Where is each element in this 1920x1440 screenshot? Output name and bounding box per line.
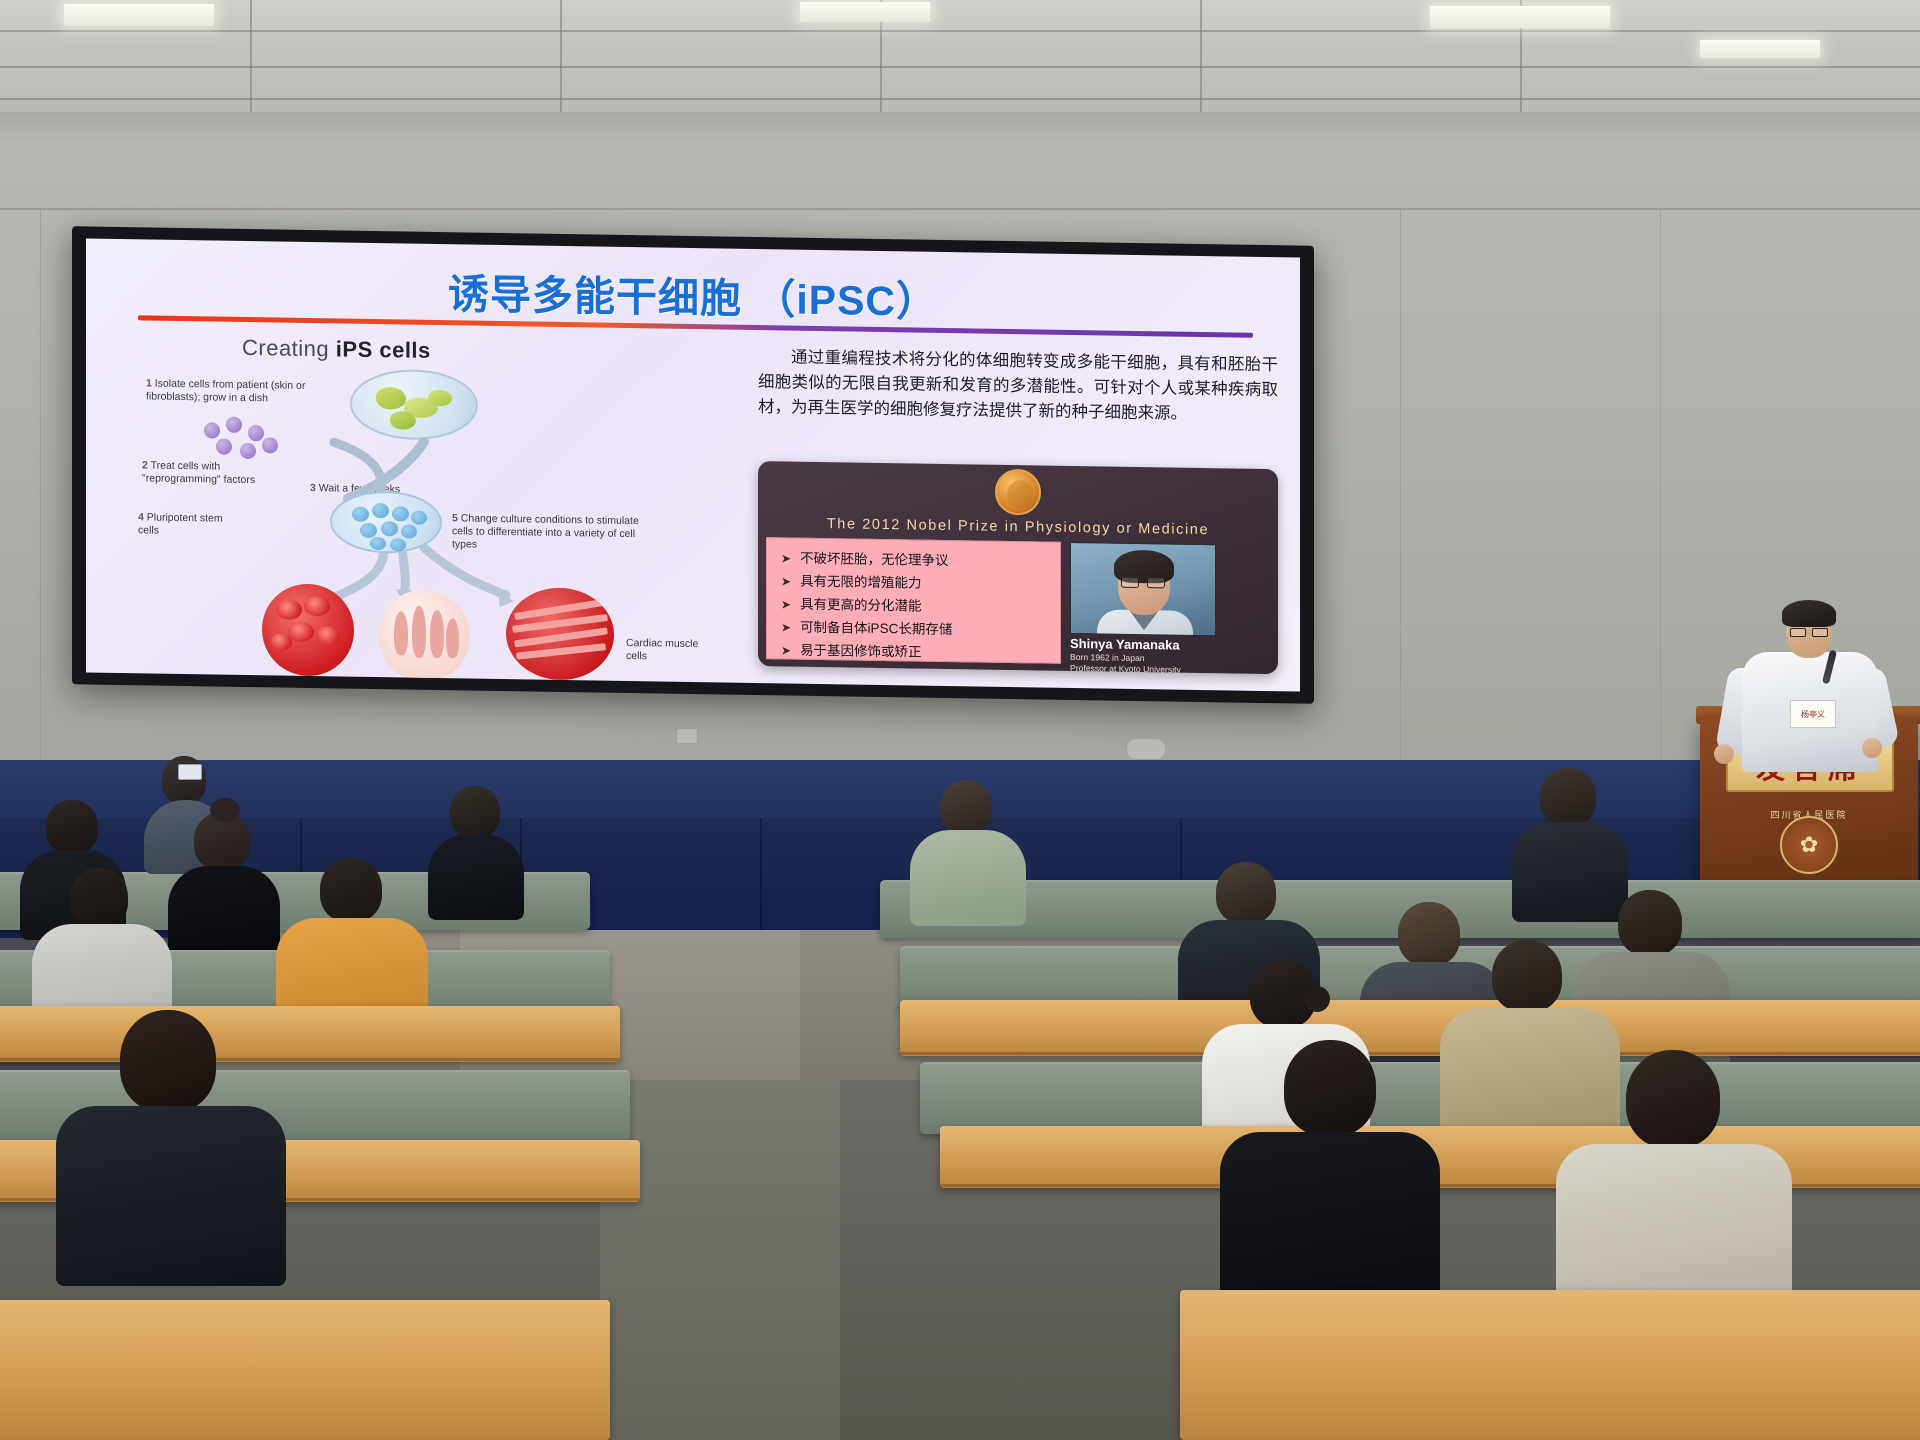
- wall-outlet: [676, 728, 698, 744]
- benefit-item: ➤具有无限的增殖能力: [781, 569, 922, 591]
- arrow-bullet-icon: ➤: [781, 597, 791, 611]
- benefit-text: 不破坏胚胎，无伦理争议: [800, 551, 949, 568]
- output-label-cardiac-text: Cardiac muscle cells: [626, 637, 698, 662]
- ips-creation-diagram: Creating iPS cells 1 Isolate cells from …: [134, 329, 732, 668]
- gut-cells-image: [378, 589, 470, 682]
- laureate-meta-2: Professor at Kyoto University: [1070, 663, 1230, 674]
- speaker-glasses-left: [1790, 628, 1806, 637]
- benefit-item: ➤具有更高的分化潜能: [781, 592, 922, 614]
- benefit-text: 可制备自体iPSC长期存储: [800, 620, 952, 637]
- step-text-5: Change culture conditions to stimulate c…: [452, 512, 639, 551]
- step-number-5: 5: [452, 512, 458, 524]
- speaker-name-badge: 杨亭义: [1790, 700, 1836, 728]
- benefit-item: ➤可制备自体iPSC长期存储: [781, 615, 952, 638]
- medal-profile: [1007, 480, 1033, 508]
- cardiac-muscle-image: [506, 587, 614, 681]
- phone-icon: [178, 764, 202, 780]
- ceiling-light: [64, 4, 214, 26]
- benefit-text: 具有无限的增殖能力: [800, 574, 922, 591]
- arrow-bullet-icon: ➤: [781, 643, 791, 657]
- portrait-glasses-right: [1147, 577, 1165, 588]
- benefits-list-box: ➤不破坏胚胎，无伦理争议 ➤具有无限的增殖能力 ➤具有更高的分化潜能 ➤可制备自…: [766, 537, 1061, 664]
- nobel-banner-text: The 2012 Nobel Prize in Physiology or Me…: [758, 515, 1278, 539]
- desk-row: [0, 1006, 620, 1062]
- benefit-text: 具有更高的分化潜能: [800, 597, 922, 614]
- ceiling-grid: [0, 0, 1920, 120]
- speaker-hand-right: [1862, 738, 1882, 758]
- podium-emblem-icon: ✿: [1780, 816, 1838, 874]
- desk-row-front: [1180, 1290, 1920, 1440]
- laureate-name: Shinya Yamanaka: [1070, 636, 1180, 653]
- speaker-glasses-right: [1812, 628, 1828, 637]
- nobel-prize-panel: The 2012 Nobel Prize in Physiology or Me…: [758, 461, 1278, 674]
- ceiling: [0, 0, 1920, 120]
- arrow-bullet-icon: ➤: [781, 551, 791, 565]
- arrow-bullet-icon: ➤: [781, 574, 791, 588]
- nobel-medal-icon: [995, 469, 1041, 516]
- benefit-text: 易于基因修饰或矫正: [800, 643, 922, 660]
- speaker-hand-left: [1714, 744, 1734, 764]
- ceiling-light: [800, 2, 930, 22]
- bench-row: [920, 1062, 1920, 1134]
- blood-cells-image: [262, 583, 354, 676]
- lecture-hall-scene: 诱导多能干细胞 （iPSC） Creating iPS cells 1 Isol…: [0, 0, 1920, 1440]
- projection-screen: 诱导多能干细胞 （iPSC） Creating iPS cells 1 Isol…: [72, 226, 1314, 704]
- presentation-slide: 诱导多能干细胞 （iPSC） Creating iPS cells 1 Isol…: [86, 238, 1300, 691]
- benefit-item: ➤易于基因修饰或矫正: [781, 638, 922, 660]
- benefit-item: ➤不破坏胚胎，无伦理争议: [781, 546, 949, 569]
- step-text-4: Pluripotent stem cells: [138, 511, 223, 536]
- step-number-4: 4: [138, 511, 144, 523]
- diagram-step-5: 5 Change culture conditions to stimulate…: [452, 512, 640, 554]
- ceiling-light: [1700, 40, 1820, 58]
- ceiling-light: [1430, 6, 1610, 28]
- wall-speaker: [1126, 738, 1166, 760]
- diagram-step-4: 4 Pluripotent stem cells: [138, 511, 234, 539]
- desk-row: [900, 1000, 1920, 1056]
- output-label-cardiac: Cardiac muscle cells: [626, 637, 702, 664]
- speaker-hair: [1782, 600, 1836, 627]
- center-aisle: [600, 1080, 840, 1440]
- laureate-portrait: [1070, 542, 1216, 636]
- slide-paragraph: 通过重编程技术将分化的体细胞转变成多能干细胞，具有和胚胎干细胞类似的无限自我更新…: [758, 345, 1278, 428]
- portrait-glasses-left: [1121, 577, 1139, 588]
- desk-row-front: [0, 1300, 610, 1440]
- arrow-bullet-icon: ➤: [781, 620, 791, 634]
